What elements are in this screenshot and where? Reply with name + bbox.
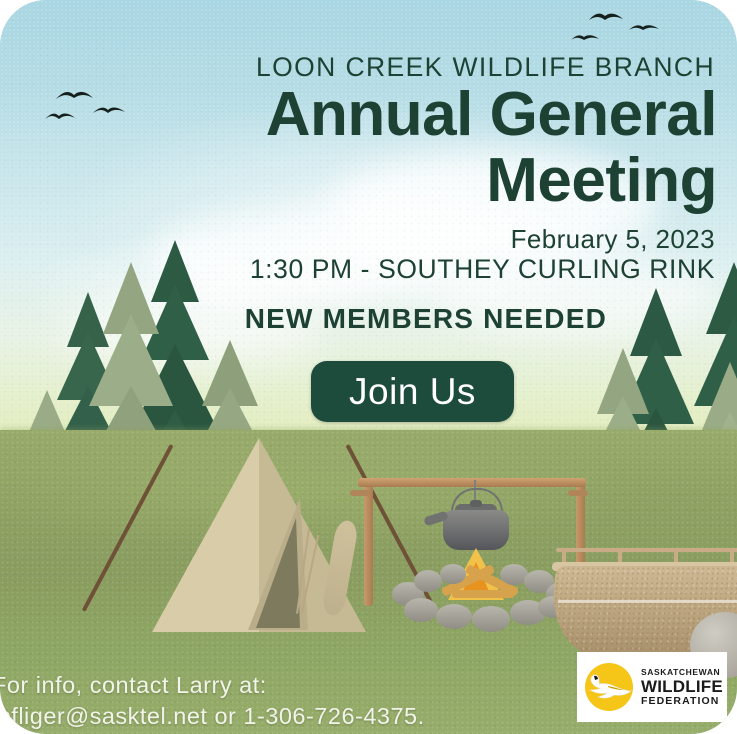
join-us-button[interactable]: Join Us bbox=[311, 361, 514, 422]
logo-line-3: FEDERATION bbox=[641, 696, 723, 707]
logo-wordmark: SASKATCHEWAN WILDLIFE FEDERATION bbox=[641, 668, 723, 706]
contact-line-2: lpfliger@sasktel.net or 1-306-726-4375. bbox=[0, 701, 512, 732]
camping-tent bbox=[152, 436, 367, 632]
poster-kicker: LOON CREEK WILDLIFE BRANCH bbox=[0, 52, 715, 83]
title-line-2: Meeting bbox=[0, 148, 717, 214]
logo-line-2: WILDLIFE bbox=[641, 678, 723, 695]
swf-logo: SASKATCHEWAN WILDLIFE FEDERATION bbox=[577, 652, 727, 722]
event-venue: 1:30 PM - SOUTHEY CURLING RINK bbox=[0, 254, 715, 285]
bird-icon bbox=[570, 32, 600, 43]
contact-line-1: For info, contact Larry at: bbox=[0, 670, 512, 701]
callout-text: NEW MEMBERS NEEDED bbox=[0, 303, 607, 335]
page-title: Annual General Meeting bbox=[0, 82, 717, 214]
poster: LOON CREEK WILDLIFE BRANCH Annual Genera… bbox=[0, 0, 737, 734]
event-date: February 5, 2023 bbox=[0, 224, 715, 255]
bird-icon bbox=[588, 10, 624, 23]
bird-icon bbox=[628, 22, 660, 33]
logo-line-1: SASKATCHEWAN bbox=[641, 668, 723, 677]
flying-goose-icon bbox=[585, 663, 633, 711]
contact-block: For info, contact Larry at: lpfliger@sas… bbox=[0, 670, 512, 732]
title-line-1: Annual General bbox=[0, 82, 717, 148]
